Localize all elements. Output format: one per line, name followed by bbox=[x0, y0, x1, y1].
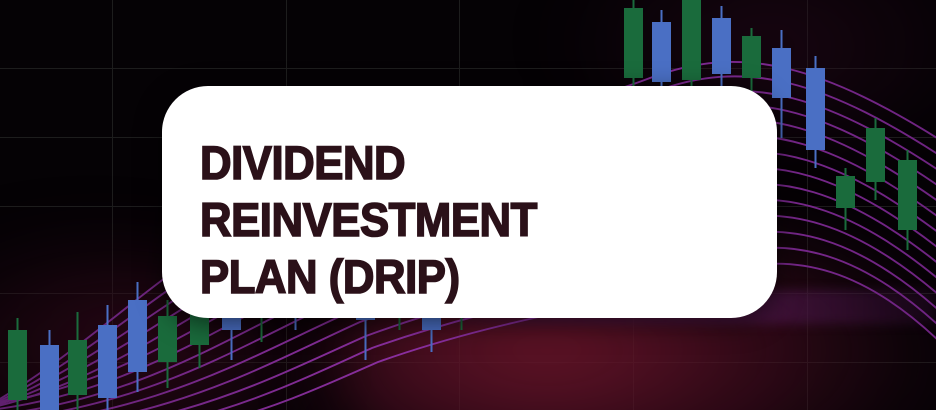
candlestick bbox=[712, 6, 731, 86]
candlestick bbox=[128, 282, 147, 392]
candlestick bbox=[158, 300, 177, 388]
candlestick bbox=[682, 0, 701, 95]
candlestick bbox=[68, 312, 87, 410]
candlestick bbox=[898, 150, 917, 250]
page-title: DIVIDEND REINVESTMENT PLAN (DRIP) bbox=[200, 134, 721, 305]
candlestick bbox=[866, 118, 885, 200]
candlestick bbox=[8, 318, 27, 410]
chart-hero-banner: DIVIDEND REINVESTMENT PLAN (DRIP) bbox=[0, 0, 936, 410]
candlestick bbox=[624, 0, 643, 92]
candlestick bbox=[836, 168, 855, 230]
candlestick bbox=[806, 56, 825, 168]
candlestick bbox=[98, 305, 117, 410]
title-card: DIVIDEND REINVESTMENT PLAN (DRIP) bbox=[162, 86, 777, 318]
candlestick bbox=[652, 10, 671, 96]
candlestick bbox=[40, 330, 59, 410]
